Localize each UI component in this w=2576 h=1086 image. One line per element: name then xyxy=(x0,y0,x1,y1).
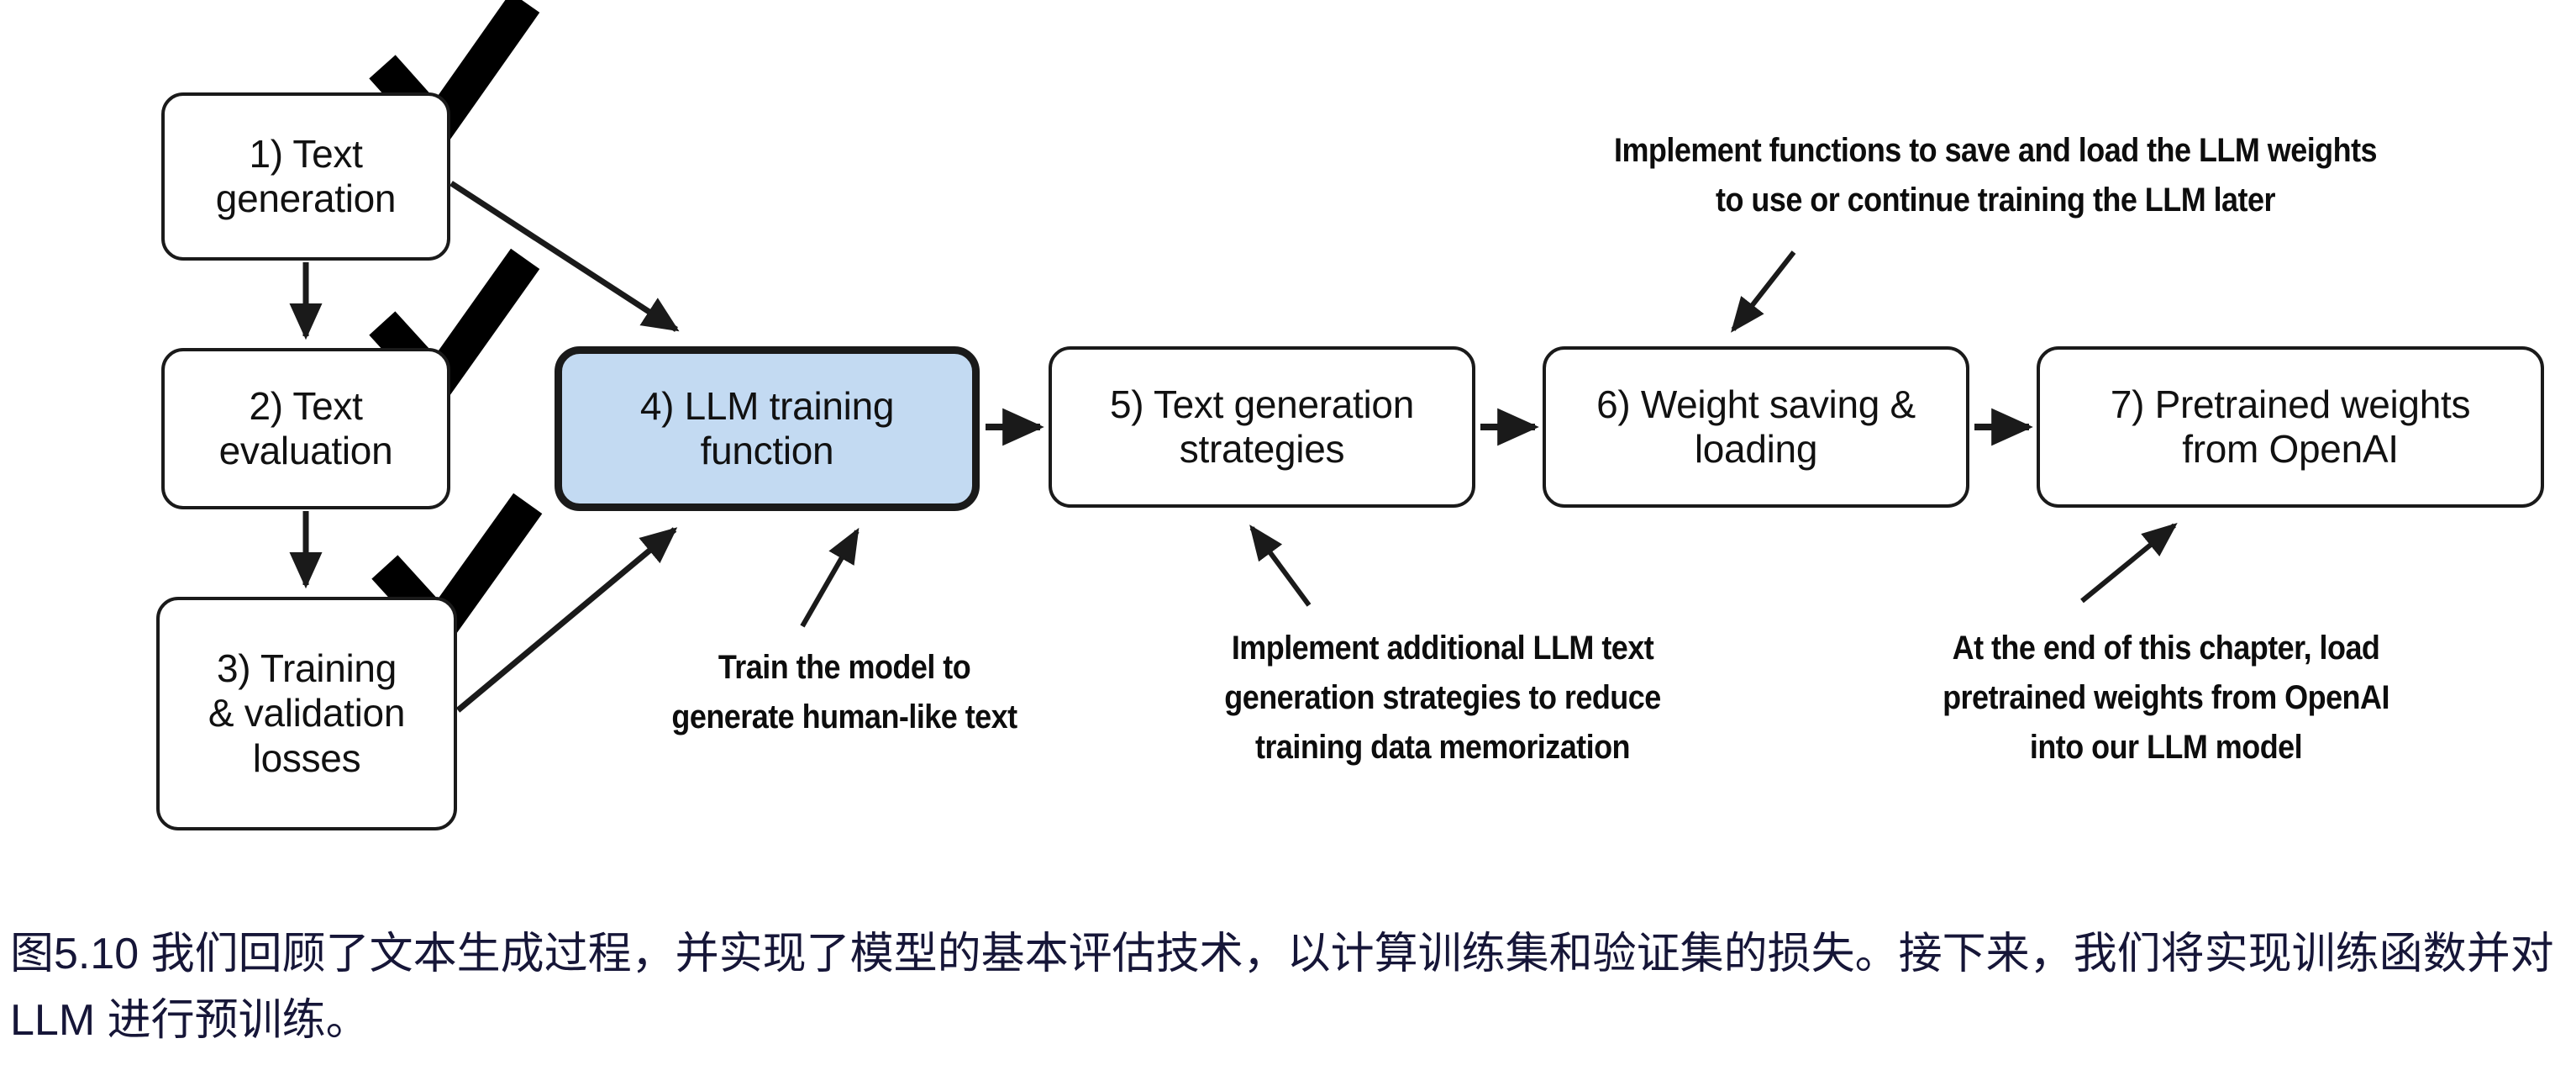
annotation-openai-weights: At the end of this chapter, load pretrai… xyxy=(1886,624,2446,773)
node-label: 2) Text evaluation xyxy=(211,384,402,474)
node-box-training-validation-losses[interactable]: 3) Training & validation losses xyxy=(156,597,457,830)
node-box-pretrained-weights-openai[interactable]: 7) Pretrained weights from OpenAI xyxy=(2037,346,2544,508)
node-label: 7) Pretrained weights from OpenAI xyxy=(2102,382,2479,472)
annotation-generation-strategies: Implement additional LLM text generation… xyxy=(1167,624,1719,773)
annotation-arrow-top xyxy=(1733,252,1794,329)
node-label: 6) Weight saving & loading xyxy=(1588,382,1924,472)
node-box-weight-saving-loading[interactable]: 6) Weight saving & loading xyxy=(1543,346,1969,508)
node-box-text-evaluation[interactable]: 2) Text evaluation xyxy=(161,348,450,509)
figure-caption: 图5.10 我们回顾了文本生成过程，并实现了模型的基本评估技术，以计算训练集和验… xyxy=(10,921,2573,1054)
annotation-train-model: Train the model to generate human-like t… xyxy=(614,643,1075,742)
annotation-arrow-train xyxy=(802,531,857,626)
node-label: 4) LLM training function xyxy=(632,384,902,474)
annotation-arrow-openai xyxy=(2082,525,2174,601)
node-label: 1) Text generation xyxy=(208,132,404,222)
figure-root: 1) Text generation 2) Text evaluation 3)… xyxy=(0,0,2576,1086)
node-box-text-generation-strategies[interactable]: 5) Text generation strategies xyxy=(1049,346,1475,508)
node-label: 5) Text generation strategies xyxy=(1101,382,1422,472)
node-box-text-generation[interactable]: 1) Text generation xyxy=(161,92,450,261)
node-box-llm-training-function[interactable]: 4) LLM training function xyxy=(555,346,980,511)
annotation-weight-saving: Implement functions to save and load the… xyxy=(1531,126,2461,225)
node-label: 3) Training & validation losses xyxy=(200,646,413,781)
annotation-arrow-generation xyxy=(1252,528,1309,605)
